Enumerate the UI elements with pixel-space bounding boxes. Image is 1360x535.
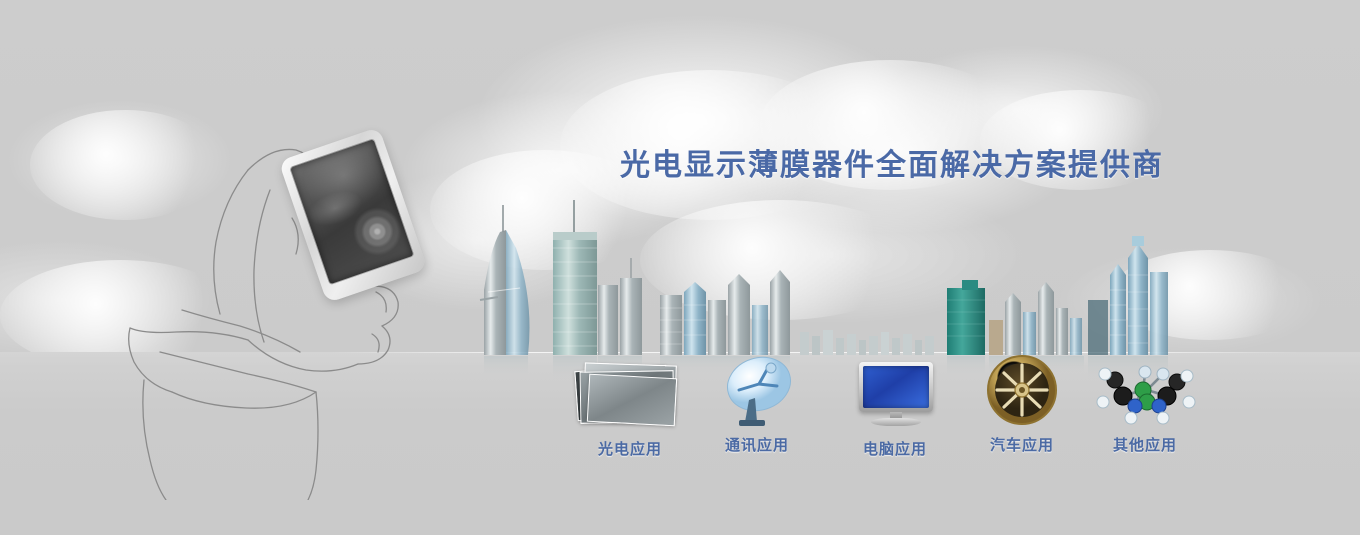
application-label: 电脑应用 bbox=[835, 438, 955, 459]
application-label: 光电应用 bbox=[570, 438, 690, 459]
application-item-computer[interactable]: 电脑应用 bbox=[835, 356, 955, 459]
computer-monitor-icon bbox=[835, 356, 955, 434]
application-item-other[interactable]: 其他应用 bbox=[1085, 352, 1205, 455]
molecule-model-icon bbox=[1085, 352, 1205, 430]
monitor-body bbox=[859, 362, 933, 412]
application-label: 汽车应用 bbox=[962, 434, 1082, 455]
car-wheel-icon bbox=[962, 352, 1082, 430]
page-title: 光电显示薄膜器件全面解决方案提供商 bbox=[620, 140, 1164, 184]
optoelectronic-film-icon bbox=[570, 356, 690, 434]
monitor-screen bbox=[863, 366, 929, 408]
application-item-optoelectronic[interactable]: 光电应用 bbox=[570, 356, 690, 459]
application-item-automotive[interactable]: 汽车应用 bbox=[962, 352, 1082, 455]
application-label: 通讯应用 bbox=[697, 434, 817, 455]
hero-banner: 光电显示薄膜器件全面解决方案提供商 光电应用 bbox=[0, 0, 1360, 535]
application-label: 其他应用 bbox=[1085, 434, 1205, 455]
application-item-communication[interactable]: 通讯应用 bbox=[697, 352, 817, 455]
satellite-dish-icon bbox=[697, 352, 817, 430]
application-icon-row: 光电应用 bbox=[0, 352, 1360, 472]
monitor-base bbox=[871, 418, 921, 426]
